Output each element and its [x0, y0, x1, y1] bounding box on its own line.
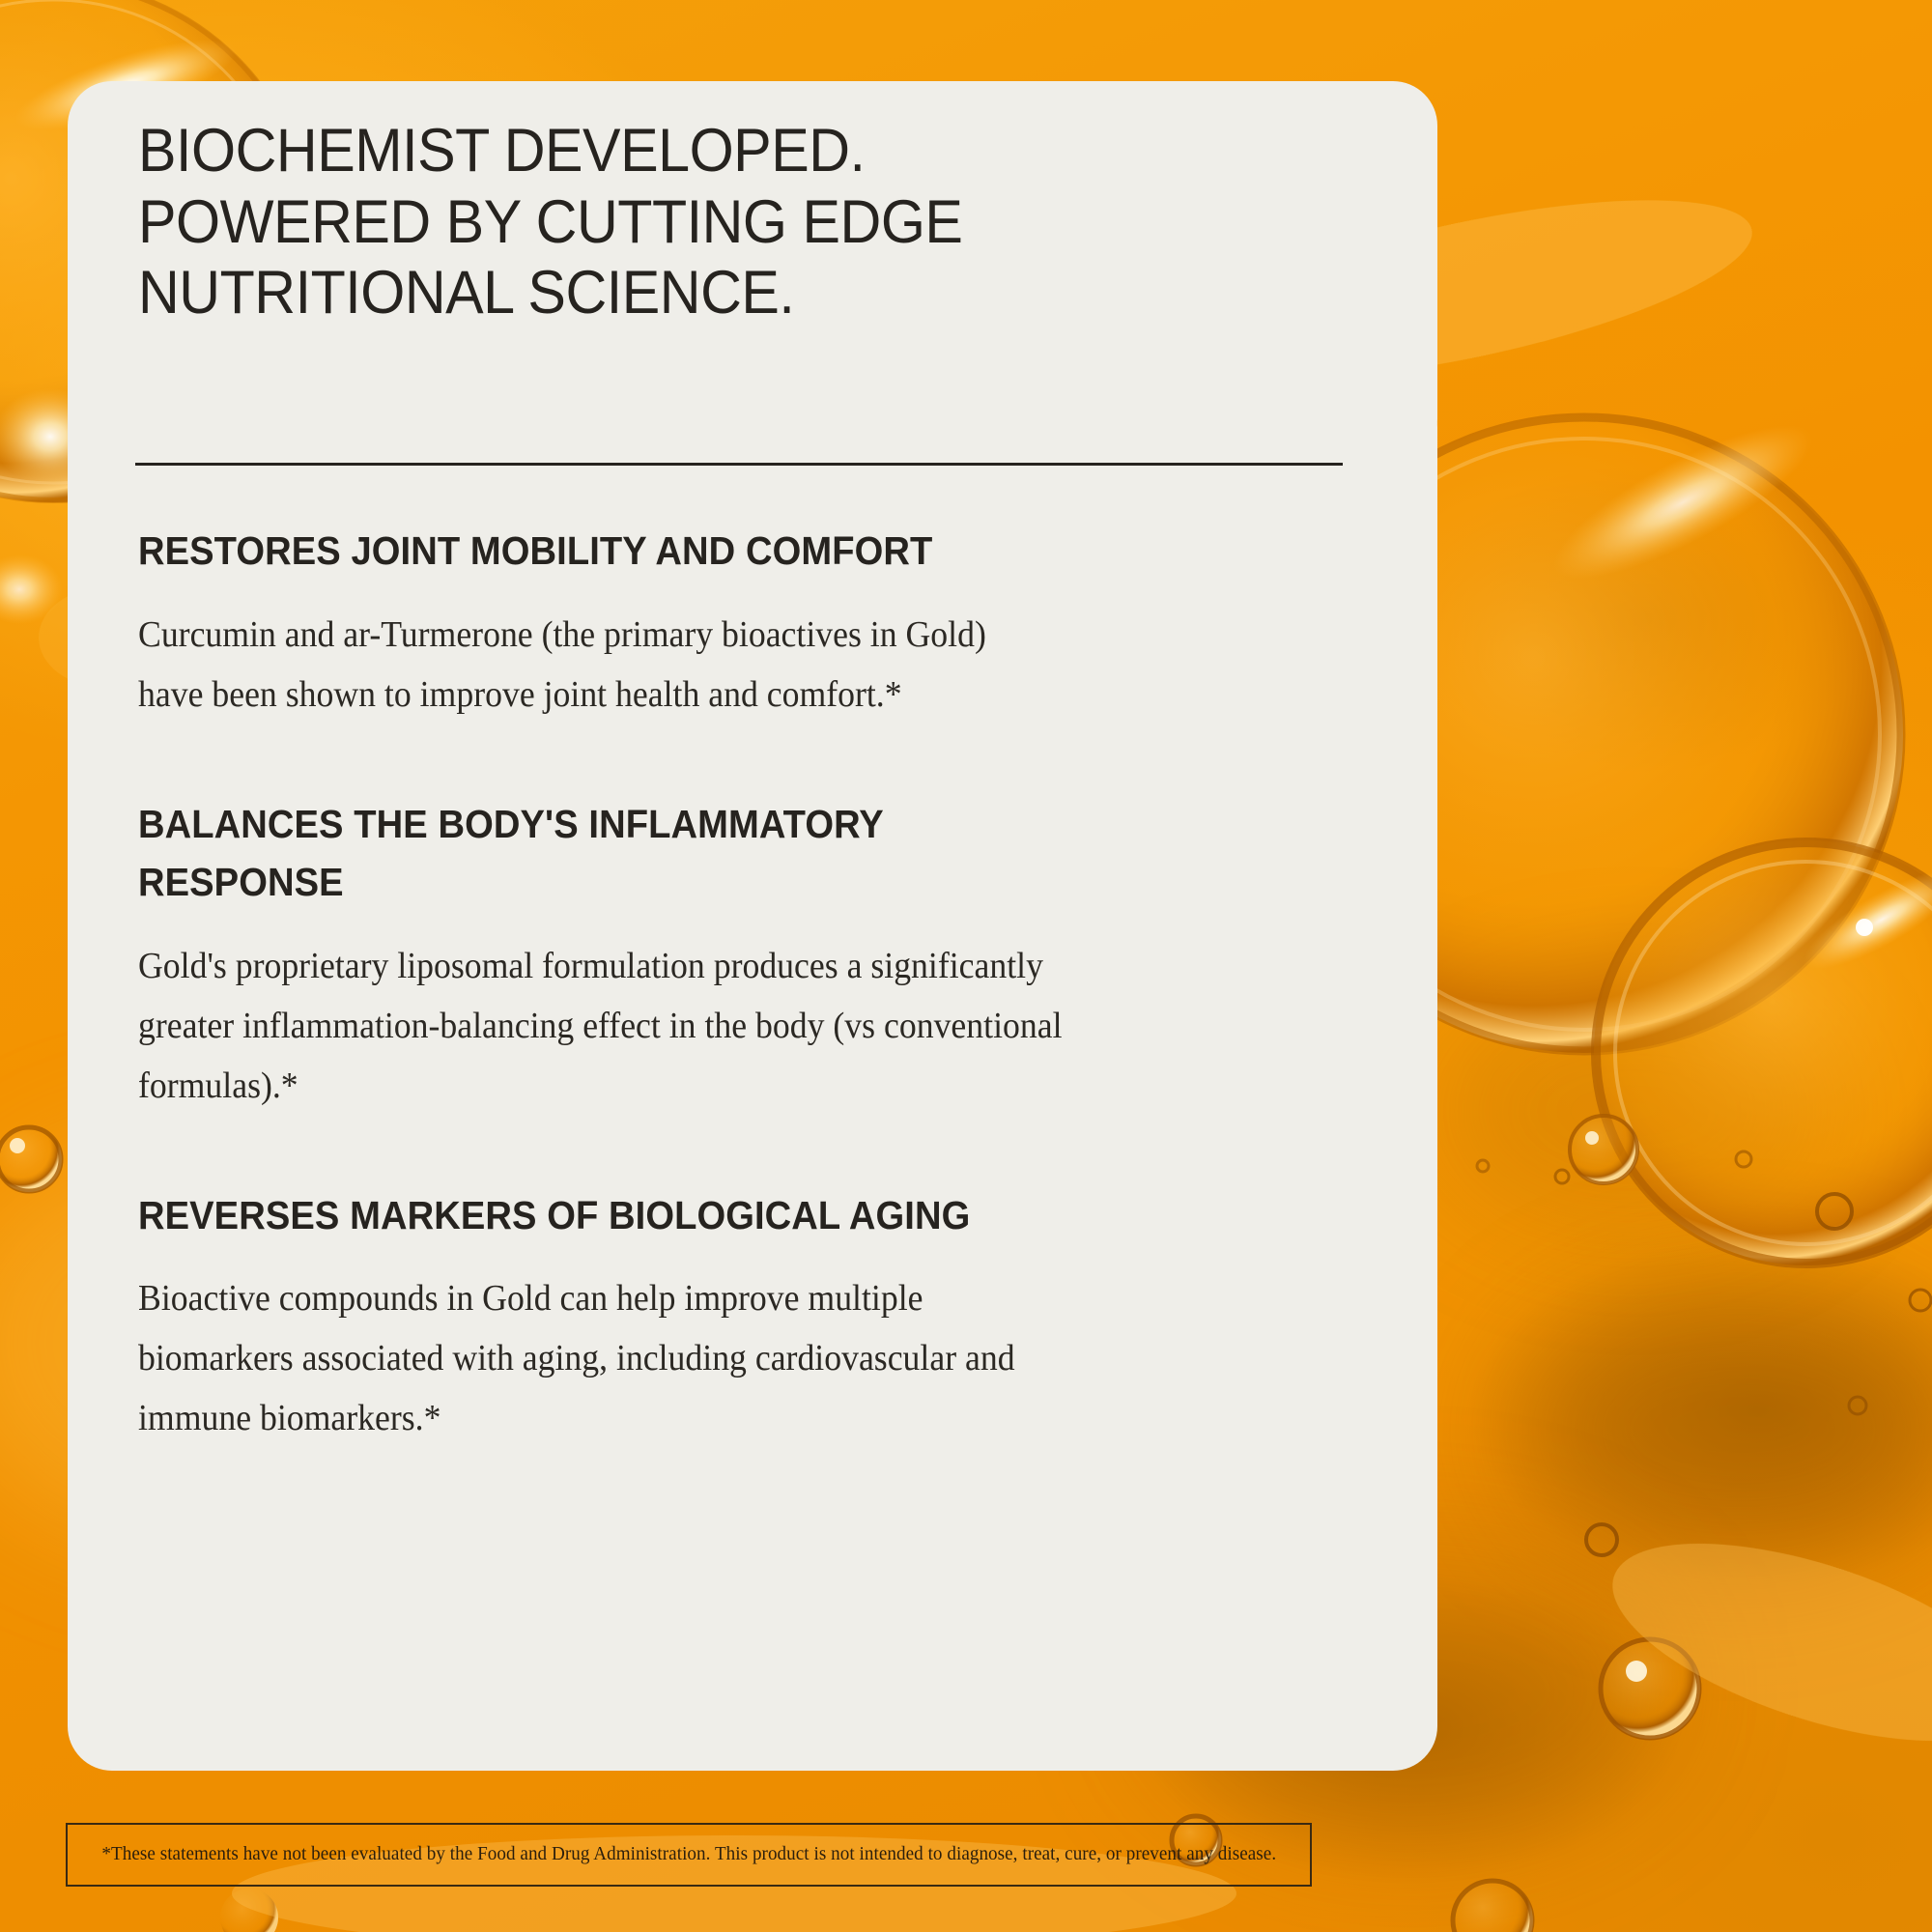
benefit-title: REVERSES MARKERS OF BIOLOGICAL AGING — [138, 1186, 1091, 1245]
benefit-item-joint-mobility: RESTORES JOINT MOBILITY AND COMFORT Curc… — [138, 522, 1326, 725]
benefit-description: Gold's proprietary liposomal formulation… — [138, 937, 1065, 1117]
benefit-title: BALANCES THE BODY'S INFLAMMATORY RESPONS… — [138, 795, 982, 912]
page-title: BIOCHEMIST DEVELOPED. POWERED BY CUTTING… — [138, 116, 1228, 329]
benefit-title: RESTORES JOINT MOBILITY AND COMFORT — [138, 522, 1091, 581]
benefit-description: Curcumin and ar-Turmerone (the primary b… — [138, 606, 1033, 725]
disclaimer-text: *These statements have not been evaluate… — [101, 1844, 1276, 1865]
header-divider — [135, 463, 1343, 466]
benefit-item-biological-aging: REVERSES MARKERS OF BIOLOGICAL AGING Bio… — [138, 1186, 1326, 1449]
disclaimer-box: *These statements have not been evaluate… — [66, 1823, 1312, 1887]
benefit-item-inflammatory-response: BALANCES THE BODY'S INFLAMMATORY RESPONS… — [138, 795, 1326, 1117]
benefit-description: Bioactive compounds in Gold can help imp… — [138, 1269, 1073, 1449]
benefits-list: RESTORES JOINT MOBILITY AND COMFORT Curc… — [138, 522, 1326, 1449]
